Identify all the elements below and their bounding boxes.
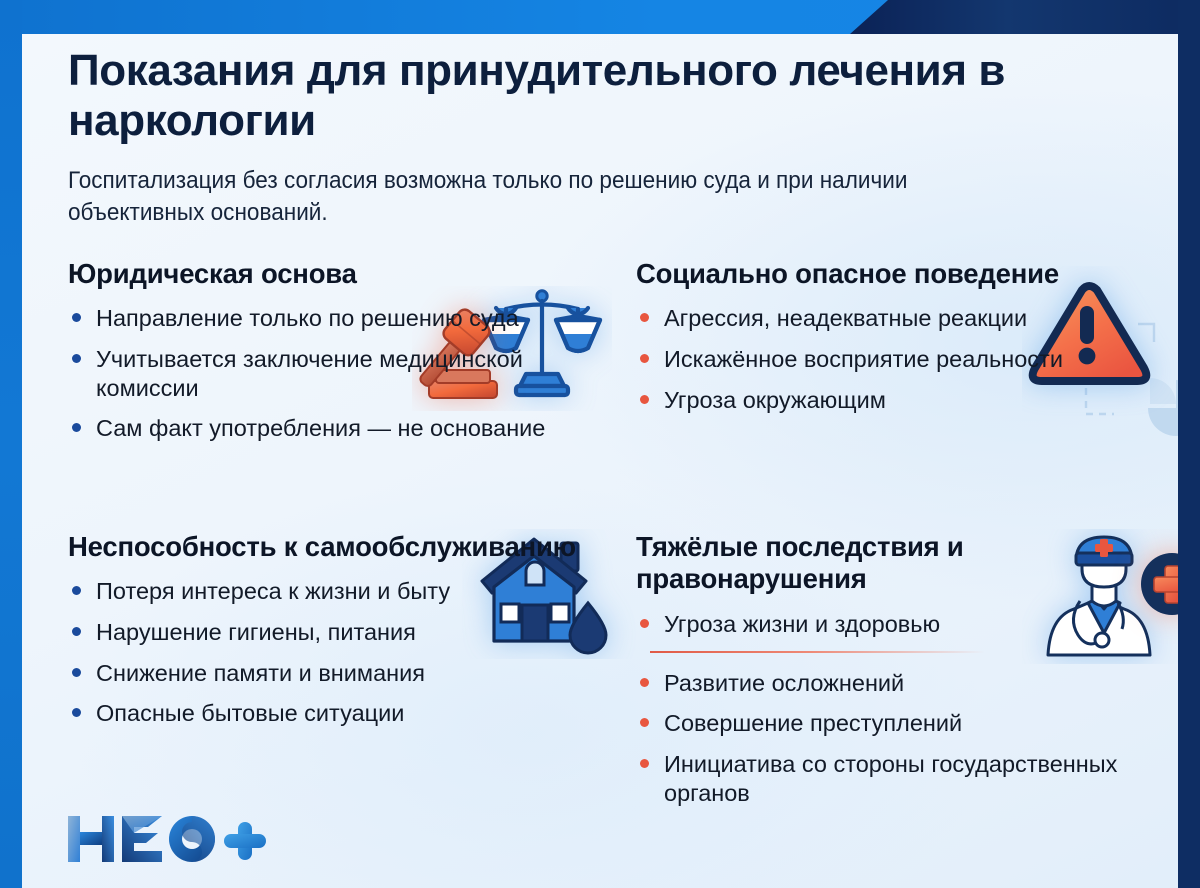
- section-items: Агрессия, неадекватные реакции Искажённо…: [636, 304, 1136, 414]
- page-subtitle: Госпитализация без согласия возможна тол…: [68, 165, 1008, 229]
- list-item: Агрессия, неадекватные реакции: [636, 304, 1136, 333]
- section-title: Социально опасное поведение: [636, 258, 1136, 290]
- list-item: Снижение памяти и внимания: [68, 659, 598, 688]
- list-item: Опасные бытовые ситуации: [68, 699, 598, 728]
- top-navy-accent: [850, 0, 1200, 34]
- header: Показания для принудительного лечения в …: [68, 46, 1068, 229]
- page-title: Показания для принудительного лечения в …: [68, 46, 1068, 146]
- sections-grid: Юридическая основа Направление только по…: [22, 258, 1178, 831]
- list-item: Развитие осложнений: [636, 669, 1136, 698]
- section-title: Юридическая основа: [68, 258, 598, 290]
- list-item: Совершение преступлений: [636, 709, 1136, 738]
- brand-logo: [66, 812, 266, 866]
- section-items-continued: Развитие осложнений Совершение преступле…: [636, 669, 1136, 808]
- content-card: Показания для принудительного лечения в …: [22, 34, 1178, 888]
- list-item: Инициатива со стороны государственных ор…: [636, 750, 1136, 807]
- sections-row-2: Неспособность к самообслуживанию Потеря …: [22, 531, 1178, 831]
- list-item: Угроза окружающим: [636, 386, 1136, 415]
- right-navy-rail: [1178, 0, 1200, 888]
- list-item: Сам факт употребления — не основание: [68, 414, 598, 443]
- section-title: Тяжёлые последствия и правонарушения: [636, 531, 1136, 596]
- list-item: Направление только по решению суда: [68, 304, 598, 333]
- section-items: Угроза жизни и здоровью: [636, 610, 1136, 639]
- infographic-frame: Показания для принудительного лечения в …: [0, 0, 1200, 888]
- logo-plus: [224, 822, 266, 860]
- section-legal-basis: Юридическая основа Направление только по…: [68, 258, 598, 455]
- list-item: Искажённое восприятие реальности: [636, 345, 1136, 374]
- section-self-care-inability: Неспособность к самообслуживанию Потеря …: [68, 531, 598, 740]
- list-item: Потеря интереса к жизни и быту: [68, 577, 598, 606]
- section-items: Направление только по решению суда Учиты…: [68, 304, 598, 443]
- logo-letter-n: [68, 816, 114, 862]
- list-item: Учитывается заключение медицинской комис…: [68, 345, 598, 402]
- left-blue-rail: [0, 0, 22, 888]
- section-dangerous-behavior: Социально опасное поведение Агрессия, не…: [636, 258, 1136, 426]
- list-item: Нарушение гигиены, питания: [68, 618, 598, 647]
- section-divider: [650, 651, 985, 653]
- medical-cross-badge: [1141, 553, 1178, 615]
- section-severe-consequences: Тяжёлые последствия и правонарушения Угр…: [636, 531, 1136, 819]
- list-item: Угроза жизни и здоровью: [636, 610, 1136, 639]
- sections-row-1: Юридическая основа Направление только по…: [22, 258, 1178, 531]
- decor-pie: [1148, 378, 1178, 436]
- section-items: Потеря интереса к жизни и быту Нарушение…: [68, 577, 598, 728]
- logo-letter-e: [122, 816, 162, 862]
- section-title: Неспособность к самообслуживанию: [68, 531, 598, 563]
- logo-letter-o: [169, 816, 215, 862]
